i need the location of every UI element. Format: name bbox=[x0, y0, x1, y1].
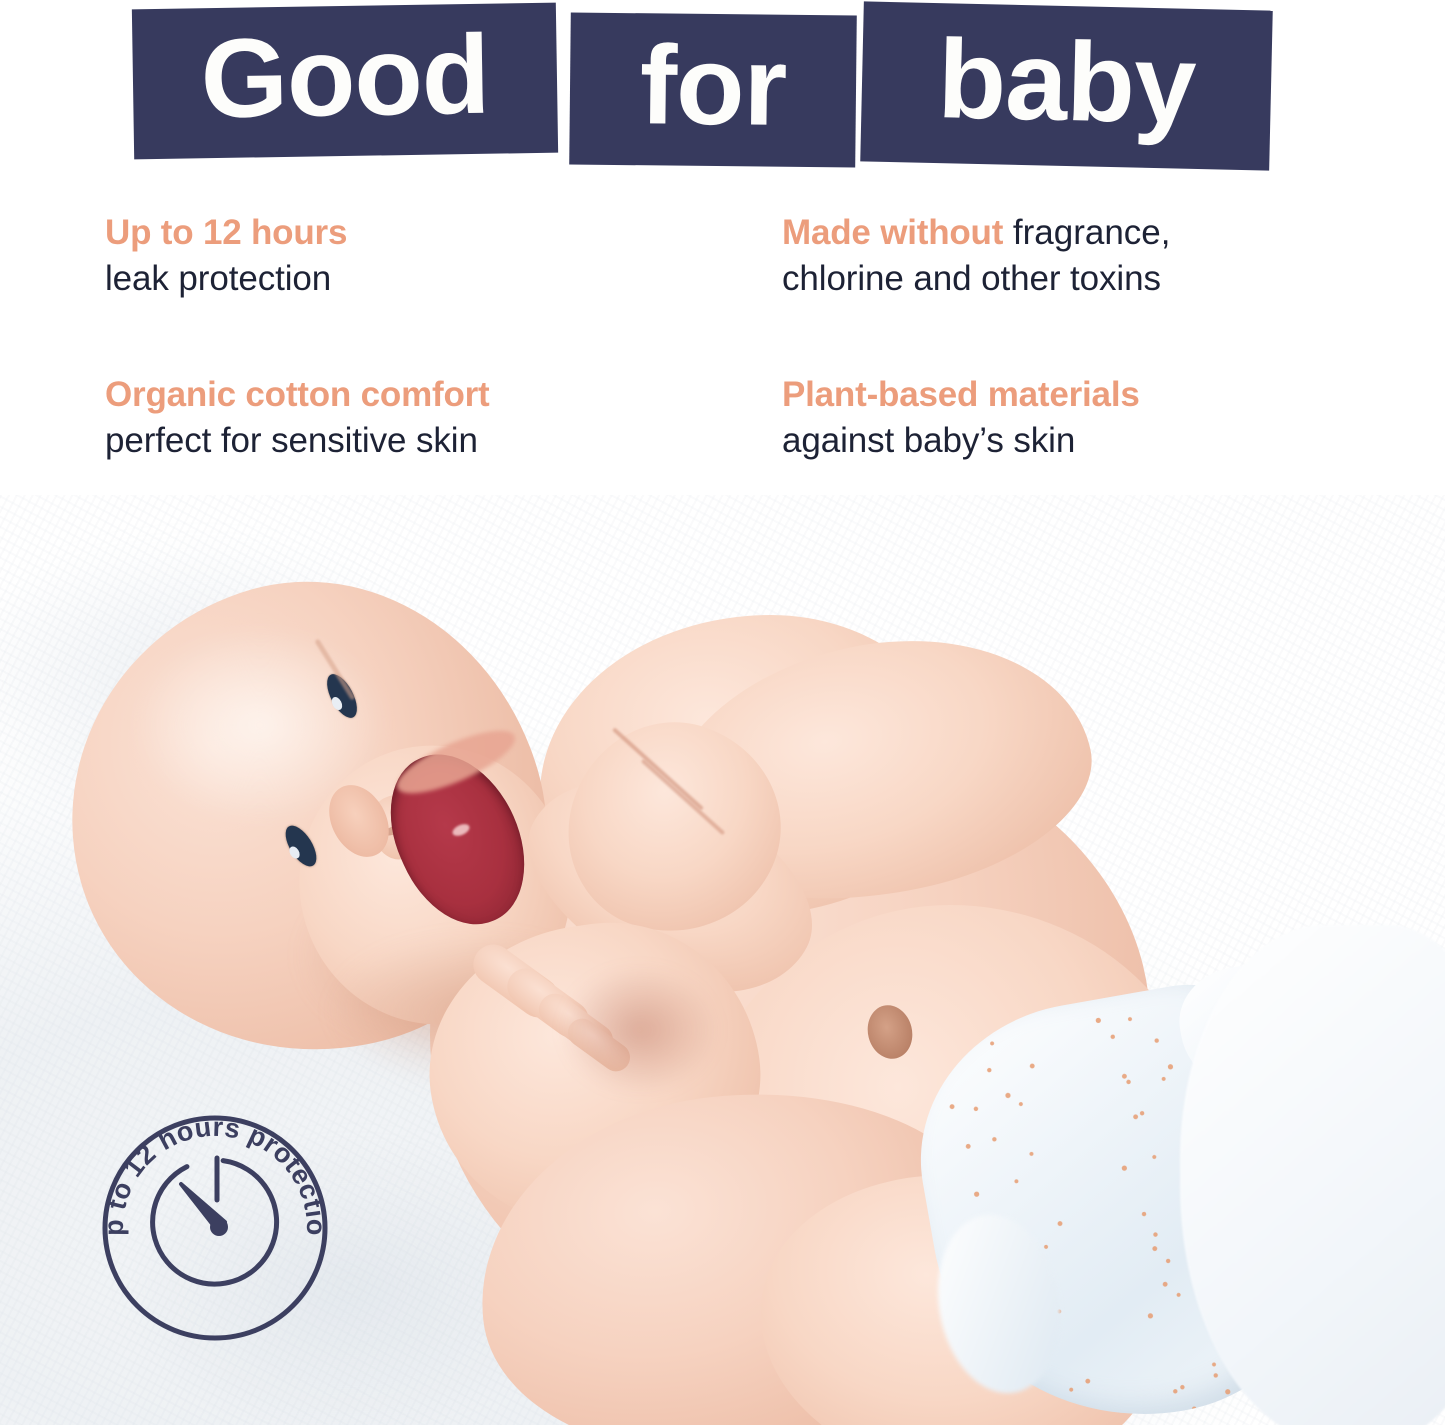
benefit-accent: Organic cotton comfort bbox=[105, 374, 725, 415]
benefit-made-without-toxins: Made without fragrance, chlorine and oth… bbox=[782, 212, 1342, 302]
stopwatch-pivot bbox=[210, 1218, 228, 1236]
headline-box-good: Good bbox=[132, 3, 558, 160]
benefit-grid: Up to 12 hours leak protection Made with… bbox=[0, 212, 1445, 492]
headline-box-for: for bbox=[569, 13, 857, 168]
benefit-leak-protection: Up to 12 hours leak protection bbox=[105, 212, 725, 302]
badge-svg: up to 12 hours protection bbox=[95, 1112, 335, 1344]
benefit-accent-tail: fragrance, bbox=[1003, 213, 1170, 252]
headline-word-for: for bbox=[639, 20, 787, 151]
headline-box-baby: baby bbox=[860, 1, 1273, 170]
benefit-organic-cotton: Organic cotton comfort perfect for sensi… bbox=[105, 374, 725, 464]
protection-badge: up to 12 hours protection bbox=[95, 1112, 335, 1344]
headline-word-good: Good bbox=[200, 9, 490, 143]
benefit-detail: chlorine and other toxins bbox=[782, 256, 1342, 302]
benefit-detail: perfect for sensitive skin bbox=[105, 418, 725, 464]
benefit-accent: Plant-based materials bbox=[782, 374, 1342, 415]
benefit-detail: leak protection bbox=[105, 256, 725, 302]
benefit-detail: against baby’s skin bbox=[782, 418, 1342, 464]
toe-shadow bbox=[560, 965, 720, 1095]
blanket-drape bbox=[1180, 925, 1445, 1425]
headline-word-baby: baby bbox=[936, 14, 1196, 149]
benefit-plant-based: Plant-based materials against baby’s ski… bbox=[782, 374, 1342, 464]
benefit-accent: Made without fragrance, bbox=[782, 212, 1342, 253]
benefit-accent: Up to 12 hours bbox=[105, 212, 725, 253]
